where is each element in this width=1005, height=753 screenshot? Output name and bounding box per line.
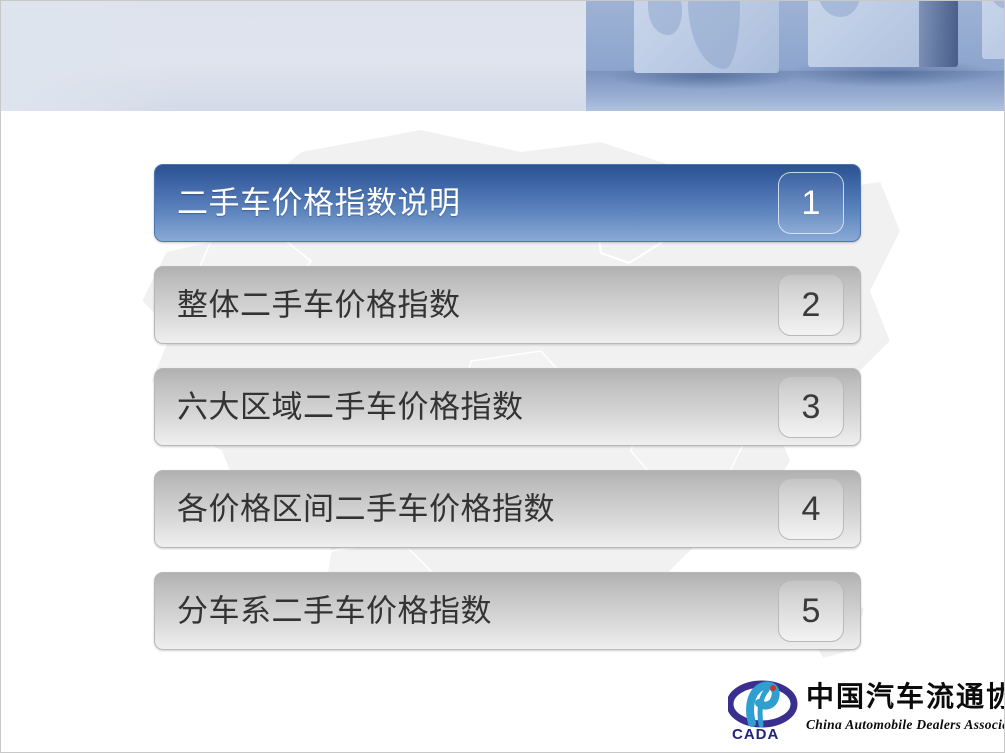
agenda-item-number-badge: 4 (778, 478, 844, 540)
cada-logo-text: 中国汽车流通协会 China Automobile Dealers Associ… (806, 681, 996, 733)
header-banner (1, 1, 1005, 111)
slide-canvas: 二手车价格指数说明 1 整体二手车价格指数 2 六大区域二手车价格指数 3 各价… (0, 0, 1005, 753)
agenda-item-label: 二手车价格指数说明 (177, 188, 461, 219)
world-cube-icon (982, 1, 1005, 59)
agenda-item-label: 六大区域二手车价格指数 (177, 392, 524, 423)
agenda-item-label: 分车系二手车价格指数 (177, 596, 492, 627)
header-left-fade (1, 1, 181, 111)
cada-name-cn: 中国汽车流通协会 (806, 681, 996, 715)
agenda-list: 二手车价格指数说明 1 整体二手车价格指数 2 六大区域二手车价格指数 3 各价… (154, 164, 861, 674)
world-cube-icon (808, 1, 958, 67)
agenda-item-1[interactable]: 二手车价格指数说明 1 (154, 164, 861, 242)
agenda-item-number-badge: 3 (778, 376, 844, 438)
agenda-item-label: 各价格区间二手车价格指数 (177, 494, 555, 525)
agenda-item-label: 整体二手车价格指数 (177, 290, 461, 321)
agenda-item-number-badge: 2 (778, 274, 844, 336)
cube-face (982, 1, 1005, 59)
agenda-item-4[interactable]: 各价格区间二手车价格指数 4 (154, 470, 861, 548)
cada-name-en: China Automobile Dealers Association (806, 717, 996, 733)
agenda-item-number-badge: 1 (778, 172, 844, 234)
world-cube-icon (634, 1, 779, 73)
cube-side-face (919, 1, 958, 67)
agenda-item-2[interactable]: 整体二手车价格指数 2 (154, 266, 861, 344)
cada-abbreviation: CADA (732, 726, 779, 743)
agenda-item-number-badge: 5 (778, 580, 844, 642)
agenda-item-5[interactable]: 分车系二手车价格指数 5 (154, 572, 861, 650)
cada-logo: CADA 中国汽车流通协会 China Automobile Dealers A… (728, 679, 996, 747)
cada-emblem-icon: CADA (728, 679, 800, 741)
agenda-item-3[interactable]: 六大区域二手车价格指数 3 (154, 368, 861, 446)
header-cube-art (586, 1, 1005, 111)
